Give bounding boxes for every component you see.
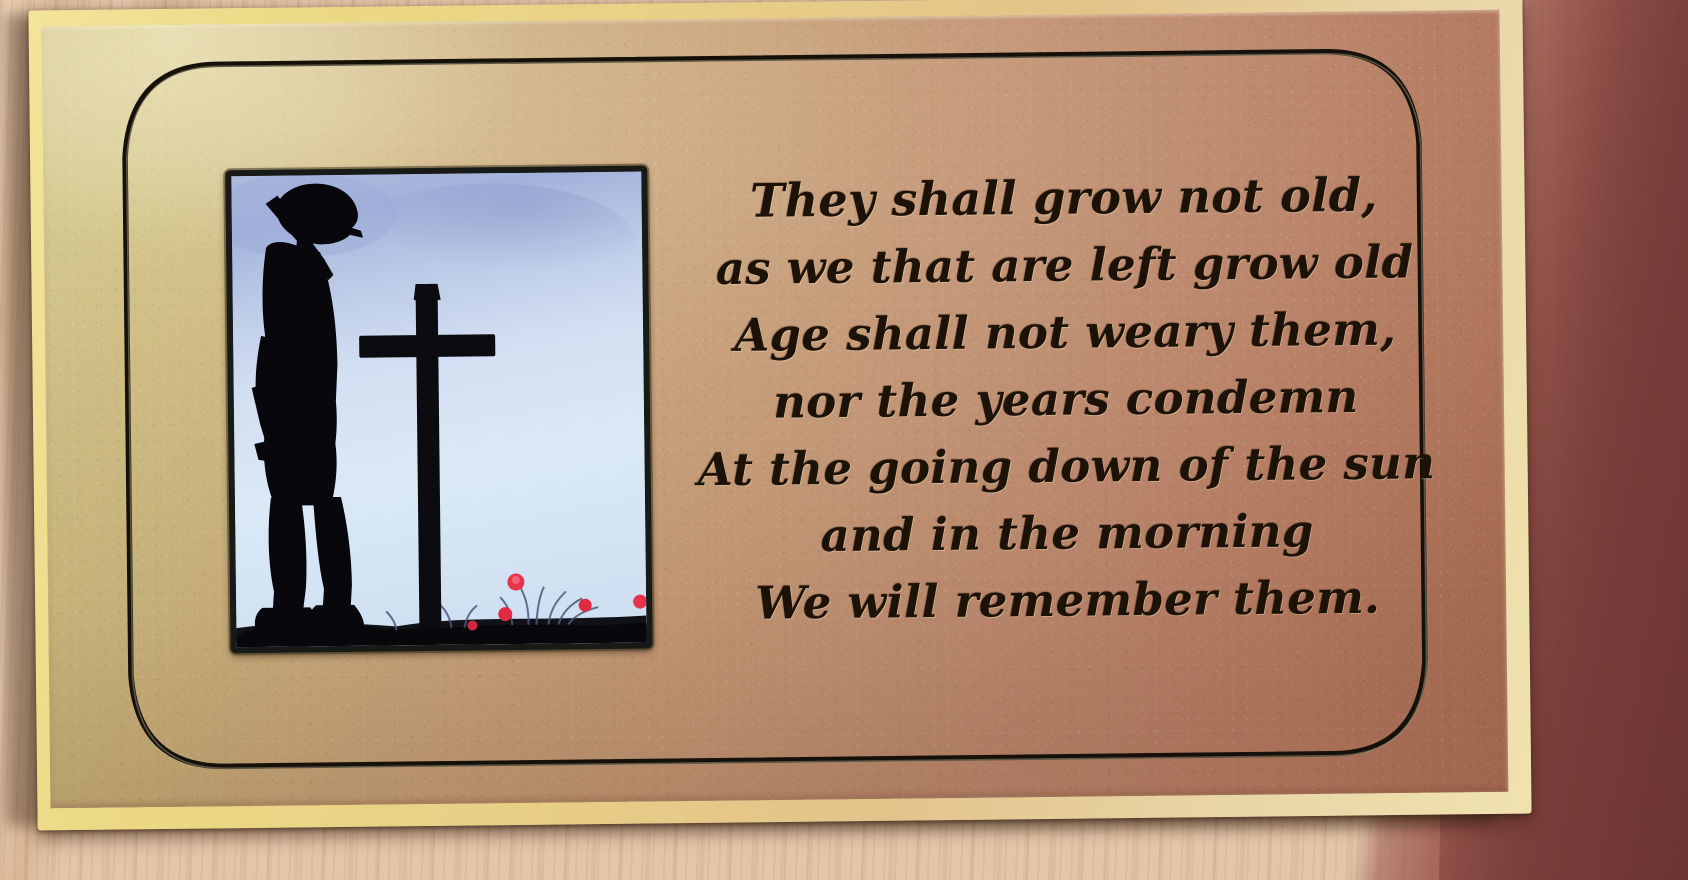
soldier-silhouette-artwork <box>231 172 646 648</box>
verse-line-6: and in the morning <box>687 496 1448 570</box>
verse-line-1: They shall grow not old, <box>684 161 1445 235</box>
verse-line-3: Age shall not weary them, <box>685 295 1446 369</box>
photo-frame <box>225 165 652 653</box>
verse-line-2: as we that are left grow old <box>684 228 1445 302</box>
memorial-verse: They shall grow not old, as we that are … <box>684 161 1448 637</box>
soldier-photo <box>231 172 646 648</box>
scene: They shall grow not old, as we that are … <box>0 0 1688 880</box>
memorial-plaque: They shall grow not old, as we that are … <box>28 0 1531 830</box>
plaque-face: They shall grow not old, as we that are … <box>42 10 1509 808</box>
verse-line-5: At the going down of the sun <box>686 429 1447 503</box>
verse-line-4: nor the years condemn <box>686 362 1447 436</box>
verse-line-7: We will remember them. <box>687 563 1448 637</box>
